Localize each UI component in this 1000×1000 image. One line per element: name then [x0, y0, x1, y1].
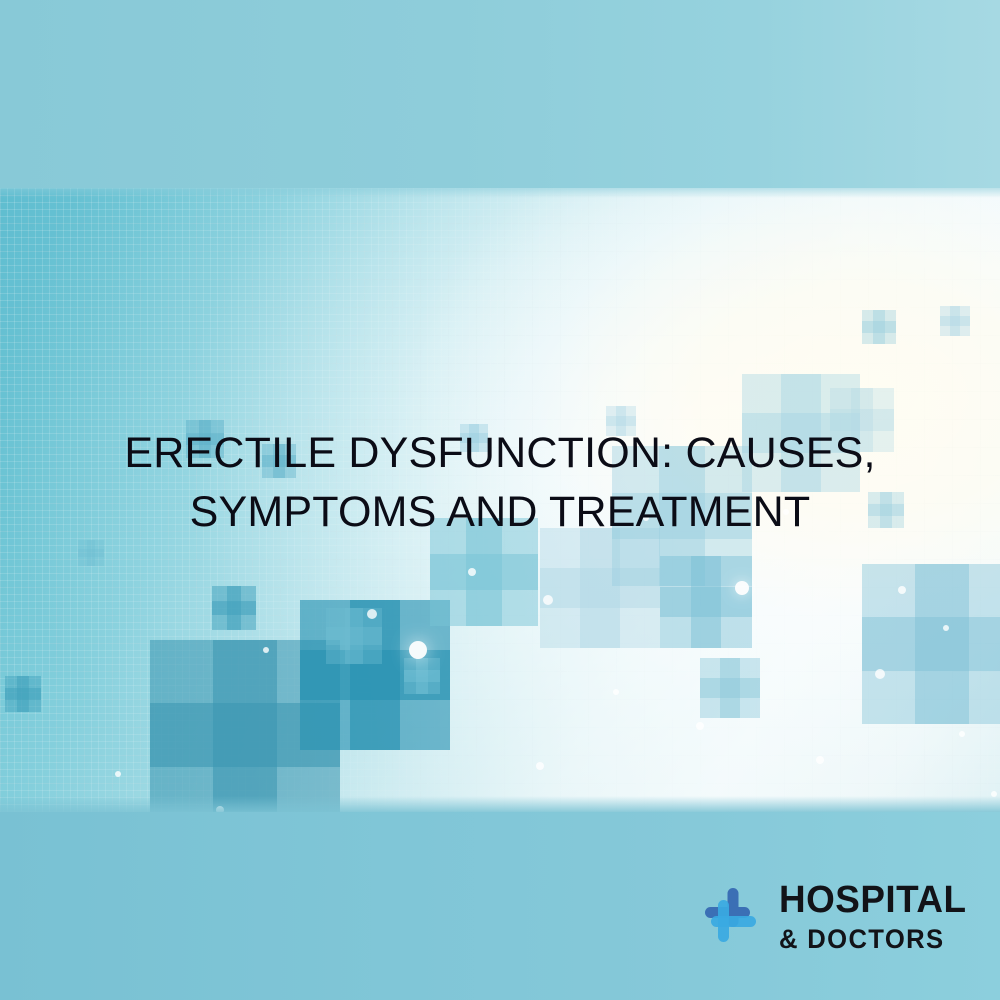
bokeh-dot: [536, 762, 544, 770]
bokeh-dot: [816, 756, 824, 764]
decorative-cross: [212, 586, 256, 630]
logo-primary-text: HOSPITAL: [779, 881, 966, 919]
title-line-1: ERECTILE DYSFUNCTION: CAUSES,: [0, 424, 1000, 483]
bokeh-dot: [367, 609, 377, 619]
decorative-cross: [326, 608, 382, 664]
slide-canvas: ERECTILE DYSFUNCTION: CAUSES, SYMPTOMS A…: [0, 0, 1000, 1000]
bokeh-dot: [543, 595, 553, 605]
bokeh-dot: [696, 722, 704, 730]
hero-bottom-fade: [0, 796, 1000, 812]
decorative-cross: [862, 310, 896, 344]
decorative-cross: [660, 556, 752, 648]
bokeh-dot: [409, 641, 427, 659]
bokeh-dot: [468, 568, 476, 576]
decorative-cross: [862, 564, 1000, 724]
page-title: ERECTILE DYSFUNCTION: CAUSES, SYMPTOMS A…: [0, 424, 1000, 542]
decorative-cross: [700, 658, 760, 718]
decorative-cross: [404, 658, 440, 694]
bokeh-dot: [115, 771, 121, 777]
bokeh-dot: [613, 689, 619, 695]
decorative-cross: [5, 676, 41, 712]
bokeh-dot: [943, 625, 949, 631]
bokeh-dot: [898, 586, 906, 594]
decorative-cross: [300, 600, 450, 750]
title-line-2: SYMPTOMS AND TREATMENT: [0, 483, 1000, 542]
medical-cross-icon: [691, 880, 765, 954]
top-band: [0, 0, 1000, 188]
decorative-cross: [78, 540, 104, 566]
decorative-cross: [150, 640, 340, 812]
decorative-cross: [940, 306, 970, 336]
bokeh-dot: [875, 669, 885, 679]
bokeh-dot: [735, 581, 749, 595]
logo-wordmark: HOSPITAL & DOCTORS: [779, 881, 972, 953]
bokeh-dot: [991, 791, 997, 797]
bokeh-dot: [959, 731, 965, 737]
brand-logo: HOSPITAL & DOCTORS: [691, 874, 972, 960]
hero-top-fade: [0, 188, 1000, 198]
decorative-cross: [540, 528, 660, 648]
logo-secondary-text: & DOCTORS: [779, 926, 944, 953]
bokeh-dot: [263, 647, 269, 653]
